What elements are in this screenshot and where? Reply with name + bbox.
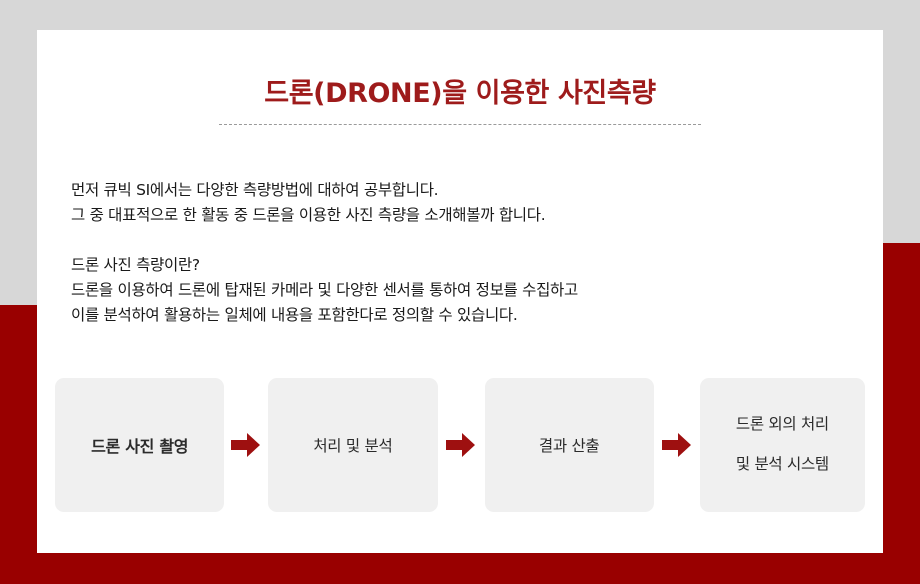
paragraph-line: 드론을 이용하여 드론에 탑재된 카메라 및 다양한 센서를 통하여 정보를 수… bbox=[71, 278, 861, 303]
flow-step-label: 결과 산출 bbox=[539, 434, 599, 456]
page-title: 드론(DRONE)을 이용한 사진측량 bbox=[37, 78, 883, 110]
flow-step-label: 드론 사진 촬영 bbox=[91, 433, 188, 457]
body-text: 먼저 큐빅 SI에서는 다양한 측량방법에 대하여 공부합니다. 그 중 대표적… bbox=[71, 178, 861, 329]
flow-step-result-output[interactable]: 결과 산출 bbox=[485, 378, 654, 512]
paragraph-line: 먼저 큐빅 SI에서는 다양한 측량방법에 대하여 공부합니다. bbox=[71, 178, 861, 203]
title-divider bbox=[219, 124, 701, 125]
red-accent-band-right bbox=[883, 243, 920, 584]
paragraph-line: 이를 분석하여 활용하는 일체에 내용을 포함한다로 정의할 수 있습니다. bbox=[71, 303, 861, 328]
flow-step-label: 드론 외의 처리 bbox=[736, 405, 829, 445]
paragraph-line: 그 중 대표적으로 한 활동 중 드론을 이용한 사진 측량을 소개해볼까 합니… bbox=[71, 203, 861, 228]
paragraph-definition: 드론 사진 측량이란? 드론을 이용하여 드론에 탑재된 카메라 및 다양한 센… bbox=[71, 253, 861, 328]
red-accent-band-bottom bbox=[0, 553, 920, 584]
flow-step-label: 및 분석 시스템 bbox=[736, 445, 829, 485]
title-block: 드론(DRONE)을 이용한 사진측량 bbox=[37, 78, 883, 125]
slide-card: 드론(DRONE)을 이용한 사진측량 먼저 큐빅 SI에서는 다양한 측량방법… bbox=[37, 30, 883, 553]
paragraph-intro: 먼저 큐빅 SI에서는 다양한 측량방법에 대하여 공부합니다. 그 중 대표적… bbox=[71, 178, 861, 228]
paragraph-line: 드론 사진 측량이란? bbox=[71, 253, 861, 278]
flow-step-label: 처리 및 분석 bbox=[313, 434, 392, 456]
arrow-right-icon bbox=[654, 378, 700, 512]
red-accent-band-left bbox=[0, 305, 37, 584]
arrow-right-icon bbox=[438, 378, 485, 512]
arrow-right-icon bbox=[224, 378, 268, 512]
flow-step-drone-photo[interactable]: 드론 사진 촬영 bbox=[55, 378, 224, 512]
slide-root: 드론(DRONE)을 이용한 사진측량 먼저 큐빅 SI에서는 다양한 측량방법… bbox=[0, 0, 920, 584]
flow-step-processing-analysis[interactable]: 처리 및 분석 bbox=[268, 378, 437, 512]
process-flow: 드론 사진 촬영 처리 및 분석 결과 산출 bbox=[55, 378, 865, 512]
flow-step-external-analysis-system[interactable]: 드론 외의 처리 및 분석 시스템 bbox=[700, 378, 865, 512]
